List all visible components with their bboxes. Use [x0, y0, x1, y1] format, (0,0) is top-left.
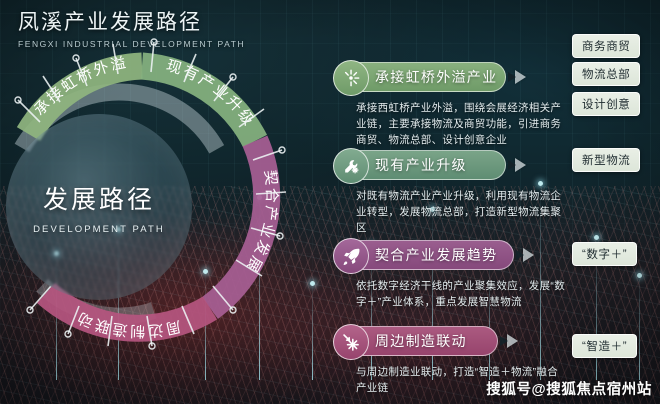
card-expand-arrow-0[interactable]	[506, 70, 526, 84]
tag-1[interactable]: 物流总部	[572, 62, 640, 86]
card-title-3: 周边制造联动	[375, 331, 467, 351]
tag-label-5: “智造＋”	[582, 338, 627, 354]
tag-2[interactable]: 设计创意	[572, 92, 640, 116]
card-description-2: 依托数字经济干线的产业聚集效应，发展“数字＋”产业体系，重点发展智慧物流	[356, 278, 568, 310]
path-card-2[interactable]: 契合产业发展趋势 依托数字经济干线的产业聚集效应，发展“数字＋”产业体系，重点发…	[334, 240, 568, 310]
card-expand-arrow-3[interactable]	[498, 334, 518, 348]
card-header-0[interactable]: 承接虹桥外溢产业	[334, 62, 568, 92]
card-pill-2[interactable]: 契合产业发展趋势	[334, 240, 514, 270]
card-description-1: 对既有物流产业产业升级，利用现有物流企业转型，发展物流总部，打造新型物流集聚区	[356, 188, 568, 236]
rocket-icon	[333, 238, 369, 274]
card-expand-arrow-2[interactable]	[514, 248, 534, 262]
card-pill-3[interactable]: 周边制造联动	[334, 326, 498, 356]
infographic-canvas: 凤溪产业发展路径 FENGXI INDUSTRIAL DEVELOPMENT P…	[0, 0, 660, 404]
card-pill-1[interactable]: 现有产业升级	[334, 150, 506, 180]
tag-3[interactable]: 新型物流	[572, 148, 640, 172]
hub-title: 发展路径	[43, 180, 155, 216]
development-path-ring: 承接虹桥外溢 现有产业升级 契合产业发展 周边制造联动	[0, 14, 328, 394]
target-arrow-icon	[333, 324, 369, 360]
burst-icon	[333, 60, 369, 96]
tag-label-2: 设计创意	[582, 96, 630, 112]
tag-label-3: 新型物流	[582, 152, 630, 168]
tag-0[interactable]: 商务商贸	[572, 34, 640, 58]
ring-center-hub: 发展路径 DEVELOPMENT PATH	[6, 114, 192, 300]
card-header-1[interactable]: 现有产业升级	[334, 150, 568, 180]
card-title-1: 现有产业升级	[375, 155, 467, 175]
card-title-2: 契合产业发展趋势	[375, 245, 497, 265]
tag-5[interactable]: “智造＋”	[572, 334, 637, 358]
card-title-0: 承接虹桥外溢产业	[375, 67, 497, 87]
watermark: 搜狐号@搜狐焦点宿州站	[486, 378, 652, 399]
tag-label-0: 商务商贸	[582, 38, 630, 54]
hub-subtitle: DEVELOPMENT PATH	[33, 224, 165, 235]
card-description-0: 承接西虹桥产业外溢，围绕会展经济相关产业链，主要承接物流及商贸功能，引进商务商贸…	[356, 100, 568, 148]
wrench-icon	[333, 148, 369, 184]
card-pill-0[interactable]: 承接虹桥外溢产业	[334, 62, 506, 92]
card-header-3[interactable]: 周边制造联动	[334, 326, 568, 356]
card-header-2[interactable]: 契合产业发展趋势	[334, 240, 568, 270]
tag-label-1: 物流总部	[582, 66, 630, 82]
card-expand-arrow-1[interactable]	[506, 158, 526, 172]
path-card-0[interactable]: 承接虹桥外溢产业 承接西虹桥产业外溢，围绕会展经济相关产业链，主要承接物流及商贸…	[334, 62, 568, 148]
path-card-1[interactable]: 现有产业升级 对既有物流产业产业升级，利用现有物流企业转型，发展物流总部，打造新…	[334, 150, 568, 236]
tag-4[interactable]: “数字＋”	[572, 242, 637, 266]
tag-label-4: “数字＋”	[582, 246, 627, 262]
ring-label-1: 现有产业升级	[164, 57, 258, 130]
